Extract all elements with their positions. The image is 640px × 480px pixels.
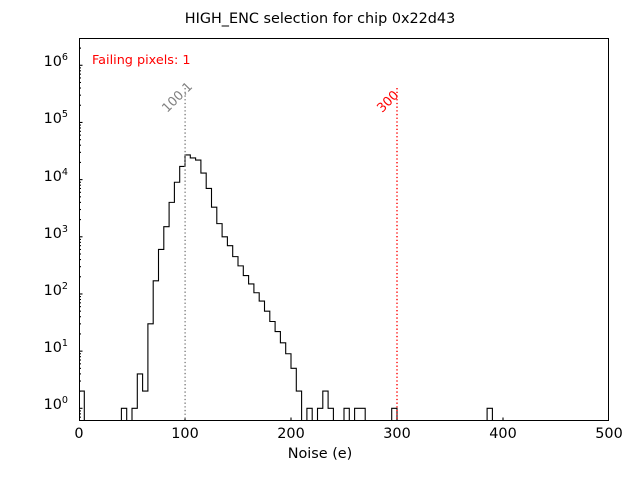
matplotlib-figure: HIGH_ENC selection for chip 0x22d43 Numb…: [0, 0, 640, 480]
x-axis-label: Noise (e): [0, 446, 640, 462]
y-tick-label: 103: [22, 226, 68, 242]
vertical-marker-lines: [185, 88, 397, 421]
x-tick-label: 400: [473, 426, 533, 442]
histogram-step-line: [79, 155, 609, 421]
axis-ticks-group: [79, 48, 609, 421]
failing-pixels-annotation: Failing pixels: 1: [92, 53, 190, 68]
page-title: HIGH_ENC selection for chip 0x22d43: [0, 11, 640, 27]
x-tick-label: 300: [367, 426, 427, 442]
y-tick-label: 106: [22, 54, 68, 70]
y-tick-label: 100: [22, 397, 68, 413]
plot-area: [79, 38, 609, 421]
y-tick-label: 104: [22, 169, 68, 185]
x-tick-label: 100: [155, 426, 215, 442]
y-tick-label: 101: [22, 340, 68, 356]
x-tick-label: 200: [261, 426, 321, 442]
y-tick-label: 102: [22, 283, 68, 299]
histogram-svg: [79, 38, 609, 421]
x-tick-label: 500: [579, 426, 639, 442]
y-tick-label: 105: [22, 111, 68, 127]
x-tick-label: 0: [49, 426, 109, 442]
